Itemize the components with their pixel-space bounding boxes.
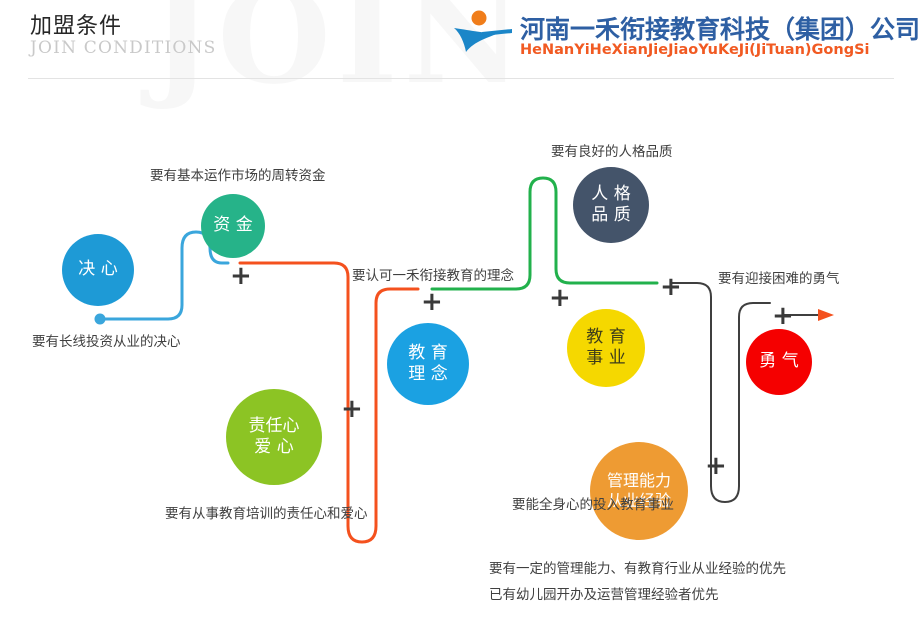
- plus-5-icon: +: [660, 274, 682, 300]
- plus-1-icon: +: [230, 263, 252, 289]
- node-yongqi[interactable]: 勇 气: [746, 329, 812, 395]
- cap-rengepinzhi: 要有良好的人格品质: [551, 140, 673, 160]
- node-label-line1: 教 育: [586, 327, 625, 348]
- cap-zerenxin: 要有从事教育培训的责任心和爱心: [165, 502, 368, 522]
- cap-shiye: 要能全身心的投入教育事业: [512, 493, 674, 513]
- node-label-line1: 管理能力: [607, 471, 671, 491]
- node-zijin[interactable]: 资 金: [201, 194, 265, 258]
- company-name-cn: 河南一禾衔接教育科技（集团）公司: [520, 10, 920, 46]
- final-arrow-head: [818, 309, 834, 321]
- cap-yongqi: 要有迎接困难的勇气: [718, 267, 840, 287]
- node-zerenxin[interactable]: 责任心爱 心: [226, 389, 322, 485]
- node-jiaoyulinian[interactable]: 教 育理 念: [387, 323, 469, 405]
- node-rengepinzhi[interactable]: 人 格品 质: [573, 167, 649, 243]
- node-label-line2: 事 业: [586, 348, 625, 369]
- node-label-line2: 理 念: [408, 364, 447, 385]
- node-label-line2: 爱 心: [254, 437, 293, 458]
- cap-guanli-2: 已有幼儿园开办及运营管理经验者优先: [489, 583, 719, 603]
- page-subtitle: JOIN CONDITIONS: [30, 38, 216, 58]
- node-label-line1: 勇 气: [759, 351, 798, 372]
- plus-7-icon: +: [772, 303, 794, 329]
- node-label-line1: 决 心: [78, 259, 117, 280]
- cap-juexin: 要有长线投资从业的决心: [32, 330, 181, 350]
- node-juexin[interactable]: 决 心: [62, 234, 134, 306]
- flow-diagram: 决 心资 金责任心爱 心教 育理 念人 格品 质教 育事 业管理能力从业经验勇 …: [0, 88, 922, 631]
- plus-2-icon: +: [341, 396, 363, 422]
- node-label-line1: 责任心: [249, 416, 300, 437]
- header-divider: [28, 78, 894, 79]
- cap-linian: 要认可一禾衔接教育的理念: [352, 264, 514, 284]
- slide-canvas: JOIN 加盟条件 JOIN CONDITIONS 河南一禾衔接教育科技（集团）…: [0, 0, 922, 631]
- node-jiaoyushiye[interactable]: 教 育事 业: [567, 309, 645, 387]
- swoosh-logo-icon: [452, 10, 514, 56]
- plus-4-icon: +: [549, 285, 571, 311]
- node-guanli[interactable]: 管理能力从业经验: [590, 442, 688, 540]
- company-name-pinyin: HeNanYiHeXianJieJiaoYuKeJi(JiTuan)GongSi: [520, 42, 870, 58]
- node-label-line1: 人 格: [591, 184, 630, 205]
- plus-3-icon: +: [421, 289, 443, 315]
- node-label-line1: 教 育: [408, 343, 447, 364]
- company-logo: 河南一禾衔接教育科技（集团）公司 HeNanYiHeXianJieJiaoYuK…: [452, 6, 902, 68]
- plus-6-icon: +: [705, 453, 727, 479]
- node-label-line2: 品 质: [591, 205, 630, 226]
- node-label-line1: 资 金: [213, 215, 252, 236]
- cap-zijin: 要有基本运作市场的周转资金: [150, 164, 326, 184]
- page-title: 加盟条件: [30, 8, 122, 40]
- cap-guanli-1: 要有一定的管理能力、有教育行业从业经验的优先: [489, 557, 786, 577]
